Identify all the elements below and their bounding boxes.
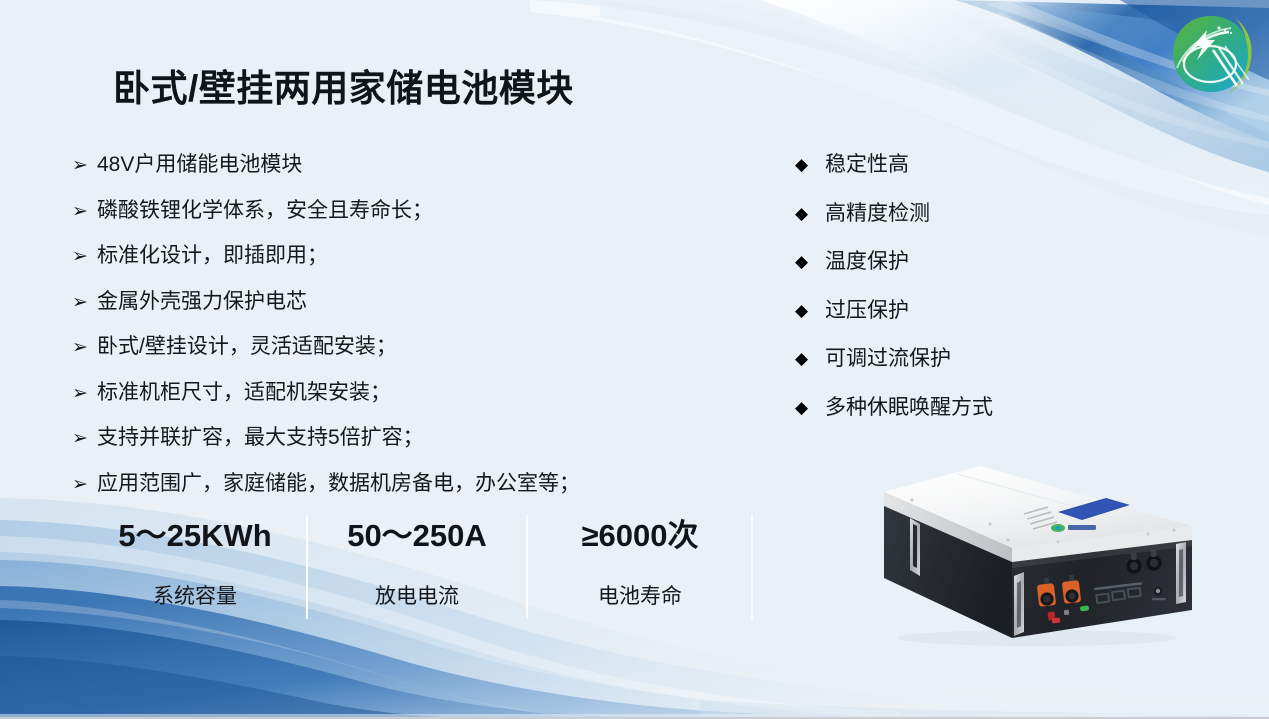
diamond-bullet-icon: ◆ (795, 395, 825, 421)
list-item-label: 应用范围广，家庭储能，数据机房备电，办公室等； (97, 471, 580, 497)
list-item: ➢ 卧式/壁挂设计，灵活适配安装； (72, 334, 712, 360)
arrow-bullet-icon: ➢ (72, 380, 97, 406)
list-item: ◆ 多种休眠唤醒方式 (795, 395, 1095, 421)
slide-root: 卧式/壁挂两用家储电池模块 ➢ 48V户用储能电池模块 ➢ 磷酸铁锂化学体系，安… (0, 0, 1269, 719)
stat-cycle-life: ≥6000次 电池寿命 (530, 512, 750, 612)
stat-label: 系统容量 (85, 582, 305, 612)
arrow-bullet-icon: ➢ (72, 289, 97, 315)
list-item: ➢ 标准化设计，即插即用； (72, 243, 712, 269)
arrow-bullet-icon: ➢ (72, 425, 97, 451)
arrow-bullet-icon: ➢ (72, 243, 97, 269)
diamond-bullet-icon: ◆ (795, 346, 825, 372)
list-item-label: 48V户用储能电池模块 (97, 152, 302, 178)
list-item-label: 金属外壳强力保护电芯 (97, 289, 307, 315)
diamond-bullet-icon: ◆ (795, 201, 825, 227)
list-item: ◆ 温度保护 (795, 249, 1095, 275)
list-item-label: 多种休眠唤醒方式 (825, 395, 993, 421)
company-logo (1163, 6, 1259, 102)
list-item: ➢ 金属外壳强力保护电芯 (72, 289, 712, 315)
arrow-bullet-icon: ➢ (72, 198, 97, 224)
list-item: ◆ 高精度检测 (795, 201, 1095, 227)
page-title: 卧式/壁挂两用家储电池模块 (113, 58, 574, 112)
arrow-bullet-icon: ➢ (72, 152, 97, 178)
stat-value: 50～250A (307, 512, 527, 560)
list-item: ➢ 标准机柜尺寸，适配机架安装； (72, 380, 712, 406)
stat-value: ≥6000次 (530, 512, 750, 560)
list-item: ◆ 稳定性高 (795, 152, 1095, 178)
stat-label: 放电电流 (307, 582, 527, 612)
diamond-bullet-icon: ◆ (795, 249, 825, 275)
stat-discharge-current: 50～250A 放电电流 (307, 512, 527, 612)
list-item-label: 卧式/壁挂设计，灵活适配安装； (97, 334, 397, 360)
list-item: ◆ 过压保护 (795, 298, 1095, 324)
stat-label: 电池寿命 (530, 582, 750, 612)
stat-divider (751, 515, 753, 619)
list-item: ➢ 支持并联扩容，最大支持5倍扩容； (72, 425, 712, 451)
stat-value: 5～25KWh (85, 512, 305, 560)
diamond-bullet-icon: ◆ (795, 152, 825, 178)
list-item-label: 可调过流保护 (825, 346, 951, 372)
arrow-bullet-icon: ➢ (72, 471, 97, 497)
diamond-bullet-icon: ◆ (795, 298, 825, 324)
list-item: ➢ 应用范围广，家庭储能，数据机房备电，办公室等； (72, 471, 712, 497)
list-item-label: 高精度检测 (825, 201, 930, 227)
feature-list-left: ➢ 48V户用储能电池模块 ➢ 磷酸铁锂化学体系，安全且寿命长； ➢ 标准化设计… (72, 152, 712, 516)
list-item-label: 支持并联扩容，最大支持5倍扩容； (97, 425, 424, 451)
list-item-label: 标准机柜尺寸，适配机架安装； (97, 380, 391, 406)
feature-list-right: ◆ 稳定性高 ◆ 高精度检测 ◆ 温度保护 ◆ 过压保护 ◆ 可调过流保护 ◆ … (795, 152, 1095, 443)
list-item-label: 温度保护 (825, 249, 909, 275)
list-item: ◆ 可调过流保护 (795, 346, 1095, 372)
list-item-label: 过压保护 (825, 298, 909, 324)
list-item-label: 稳定性高 (825, 152, 909, 178)
spec-highlights: 5～25KWh 系统容量 50～250A 放电电流 ≥6000次 电池寿命 (85, 512, 765, 622)
list-item-label: 标准化设计，即插即用； (97, 243, 328, 269)
battery-module-image (862, 452, 1222, 652)
list-item: ➢ 磷酸铁锂化学体系，安全且寿命长； (72, 198, 712, 224)
list-item: ➢ 48V户用储能电池模块 (72, 152, 712, 178)
arrow-bullet-icon: ➢ (72, 334, 97, 360)
stat-capacity: 5～25KWh 系统容量 (85, 512, 305, 612)
list-item-label: 磷酸铁锂化学体系，安全且寿命长； (97, 198, 433, 224)
